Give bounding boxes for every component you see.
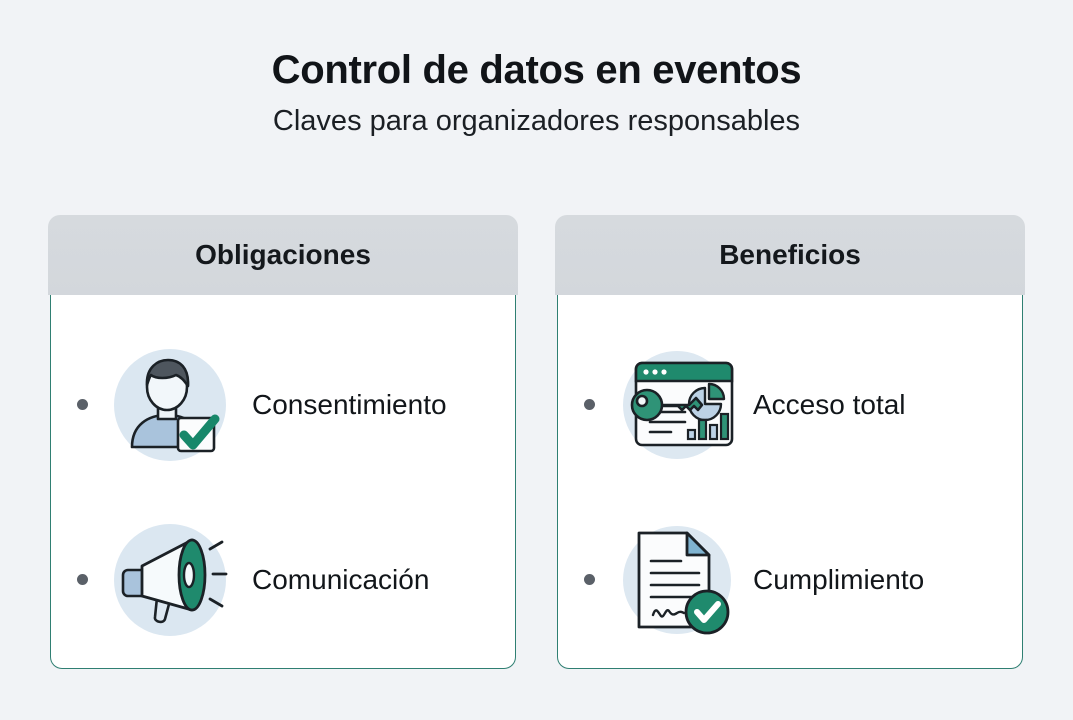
column-body-beneficios: Acceso total [557, 295, 1023, 669]
megaphone-icon [106, 516, 234, 644]
page-header: Control de datos en eventos Claves para … [0, 0, 1073, 138]
bullet-point-icon [77, 574, 88, 585]
list-item[interactable]: Comunicación [51, 492, 515, 667]
comparison-columns: Obligaciones [48, 215, 1025, 669]
list-item-label: Comunicación [252, 564, 429, 596]
column-body-obligaciones: Consentimiento [50, 295, 516, 669]
list-item[interactable]: Cumplimiento [558, 492, 1022, 667]
page-title: Control de datos en eventos [0, 48, 1073, 93]
dashboard-key-icon [613, 341, 741, 469]
column-header-beneficios: Beneficios [555, 215, 1025, 295]
list-item-label: Consentimiento [252, 389, 447, 421]
page-subtitle: Claves para organizadores responsables [0, 105, 1073, 138]
bullet-point-icon [584, 399, 595, 410]
column-title: Obligaciones [195, 239, 371, 271]
list-item-label: Cumplimiento [753, 564, 924, 596]
document-check-icon [613, 516, 741, 644]
column-beneficios: Beneficios [555, 215, 1025, 669]
bullet-point-icon [584, 574, 595, 585]
bullet-point-icon [77, 399, 88, 410]
column-obligaciones: Obligaciones [48, 215, 518, 669]
column-header-obligaciones: Obligaciones [48, 215, 518, 295]
column-title: Beneficios [719, 239, 861, 271]
list-item[interactable]: Acceso total [558, 317, 1022, 492]
list-item[interactable]: Consentimiento [51, 317, 515, 492]
list-item-label: Acceso total [753, 389, 906, 421]
person-check-icon [106, 341, 234, 469]
